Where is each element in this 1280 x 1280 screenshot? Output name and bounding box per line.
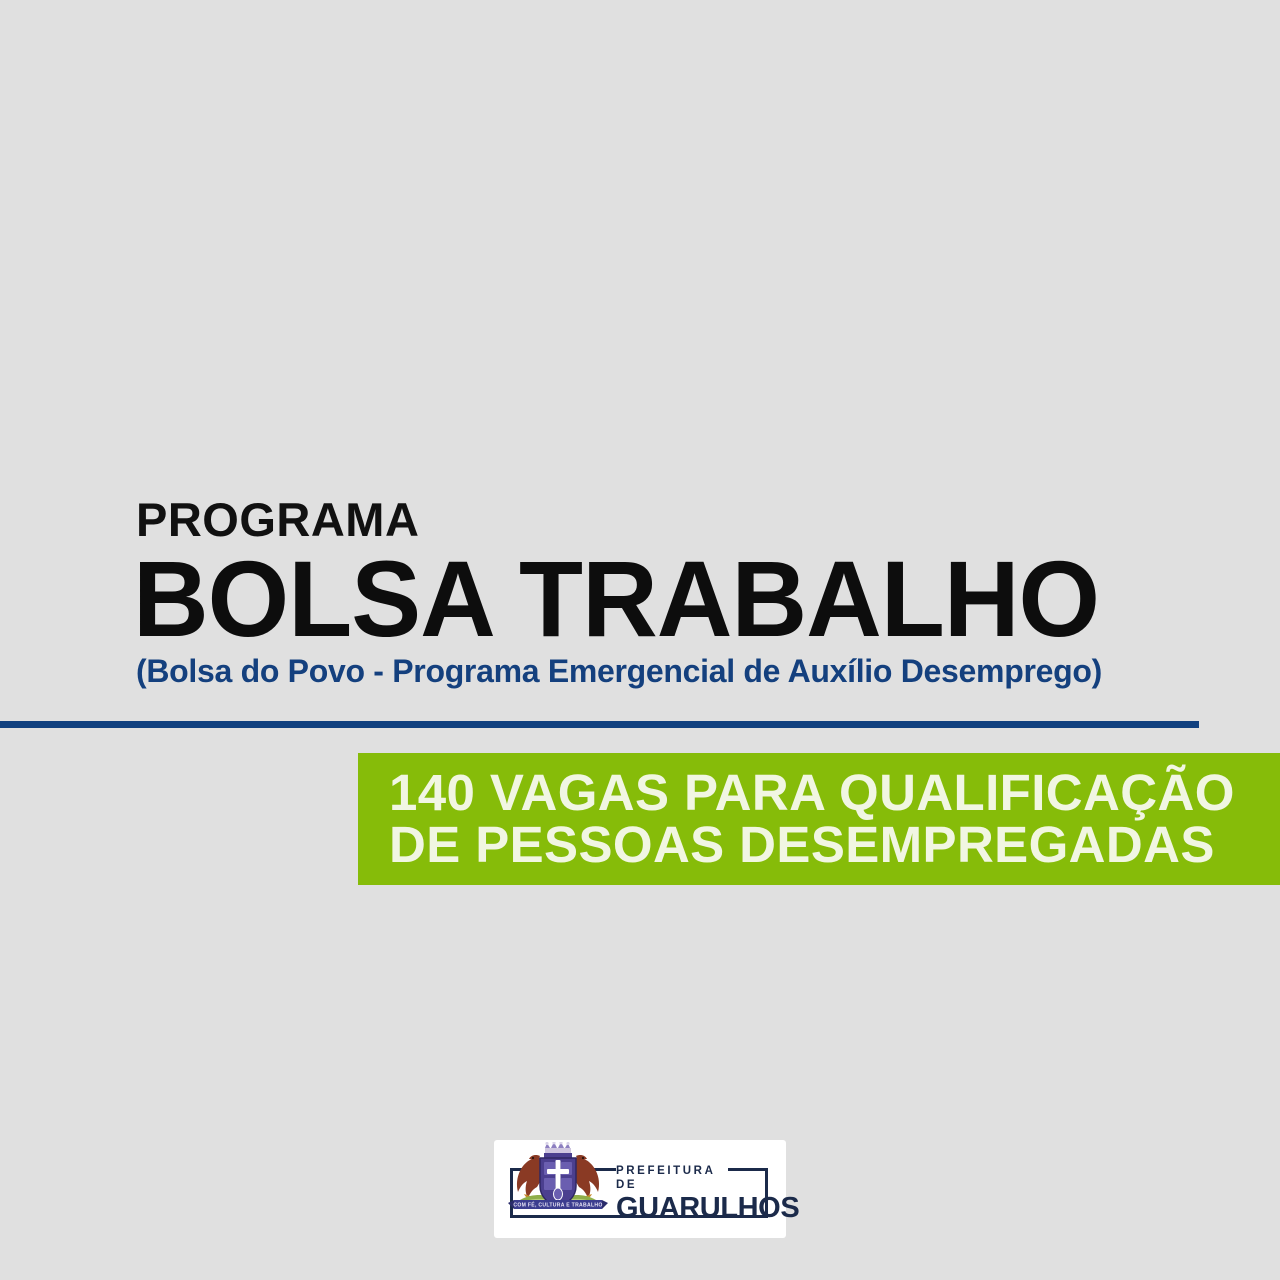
logo-city-name: GUARULHOS <box>616 1193 766 1224</box>
guarulhos-coat-of-arms-icon: COM FÉ, CULTURA E TRABALHO <box>506 1142 610 1220</box>
logo-eyebrow-text: PREFEITURA DE <box>616 1164 728 1192</box>
prefeitura-guarulhos-logo: COM FÉ, CULTURA E TRABALHO PREFEITURA DE… <box>494 1140 786 1238</box>
headline-block: PROGRAMA BOLSA TRABALHO (Bolsa do Povo -… <box>0 495 1280 691</box>
vacancies-callout-band: 140 VAGAS PARA QUALIFICAÇÃO DE PESSOAS D… <box>358 753 1280 885</box>
logo-area: COM FÉ, CULTURA E TRABALHO PREFEITURA DE… <box>0 1140 1280 1238</box>
callout-line-2: DE PESSOAS DESEMPREGADAS <box>389 819 1280 871</box>
blue-divider-rule <box>0 721 1199 728</box>
logo-wordmark: PREFEITURA DE GUARULHOS <box>616 1164 766 1224</box>
poster-canvas: PROGRAMA BOLSA TRABALHO (Bolsa do Povo -… <box>0 0 1280 1280</box>
svg-text:COM FÉ, CULTURA E TRABALHO: COM FÉ, CULTURA E TRABALHO <box>513 1201 602 1209</box>
page-title: BOLSA TRABALHO <box>133 547 1246 651</box>
callout-line-1: 140 VAGAS PARA QUALIFICAÇÃO <box>389 767 1280 819</box>
